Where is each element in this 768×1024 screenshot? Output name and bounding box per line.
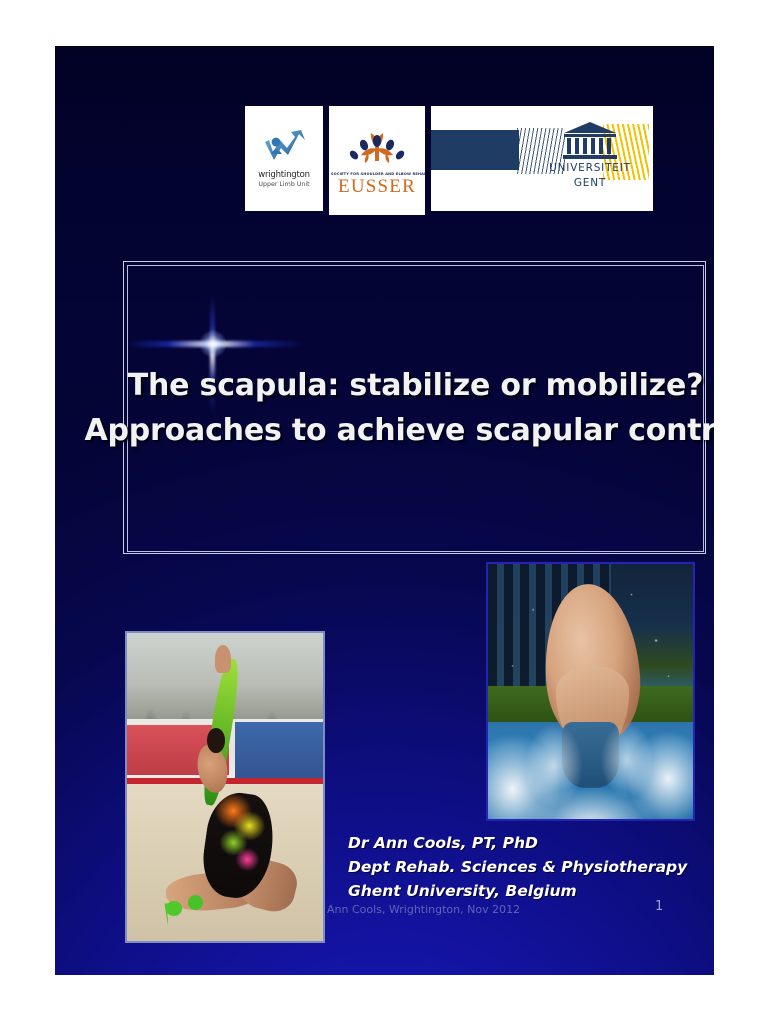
- logo-eusser-wordmark: EUSSER: [338, 177, 416, 196]
- logo-wrightington-subtitle: Upper Limb Unit: [258, 182, 309, 188]
- author-institution: Ghent University, Belgium: [348, 880, 687, 904]
- classical-building-icon: [562, 120, 618, 160]
- logo-ugent-line1: UNIVERSITEIT: [535, 163, 645, 175]
- logo-ugent-line2: GENT: [535, 178, 645, 190]
- slide-title-line-2: Approaches to achieve scapular control: [84, 409, 714, 453]
- photo-diver: [486, 562, 695, 821]
- slide-footer-text: Ann Cools, Wrightington, Nov 2012: [327, 903, 520, 916]
- author-block: Dr Ann Cools, PT, PhD Dept Rehab. Scienc…: [348, 832, 687, 904]
- logo-wrightington: wrightington Upper Limb Unit: [245, 106, 323, 211]
- logo-wrightington-name: wrightington: [258, 171, 310, 180]
- slide-title-line-1: The scapula: stabilize or mobilize?: [128, 364, 704, 408]
- arrow-check-person-icon: [261, 128, 307, 168]
- logo-ugent: UNIVERSITEIT GENT: [431, 106, 653, 211]
- ugent-blue-bar: [431, 130, 519, 170]
- fan-figures-icon: [346, 129, 408, 169]
- logo-eusser: EUROPEAN SOCIETY FOR SHOULDER AND ELBOW …: [329, 106, 425, 215]
- author-department: Dept Rehab. Sciences & Physiotherapy: [348, 856, 687, 880]
- logo-band: wrightington Upper Limb Unit: [245, 106, 655, 211]
- slide-canvas: wrightington Upper Limb Unit: [55, 46, 714, 975]
- photo-gymnast: [125, 631, 325, 943]
- title-frame: The scapula: stabilize or mobilize? Appr…: [123, 261, 706, 554]
- author-name: Dr Ann Cools, PT, PhD: [348, 832, 687, 856]
